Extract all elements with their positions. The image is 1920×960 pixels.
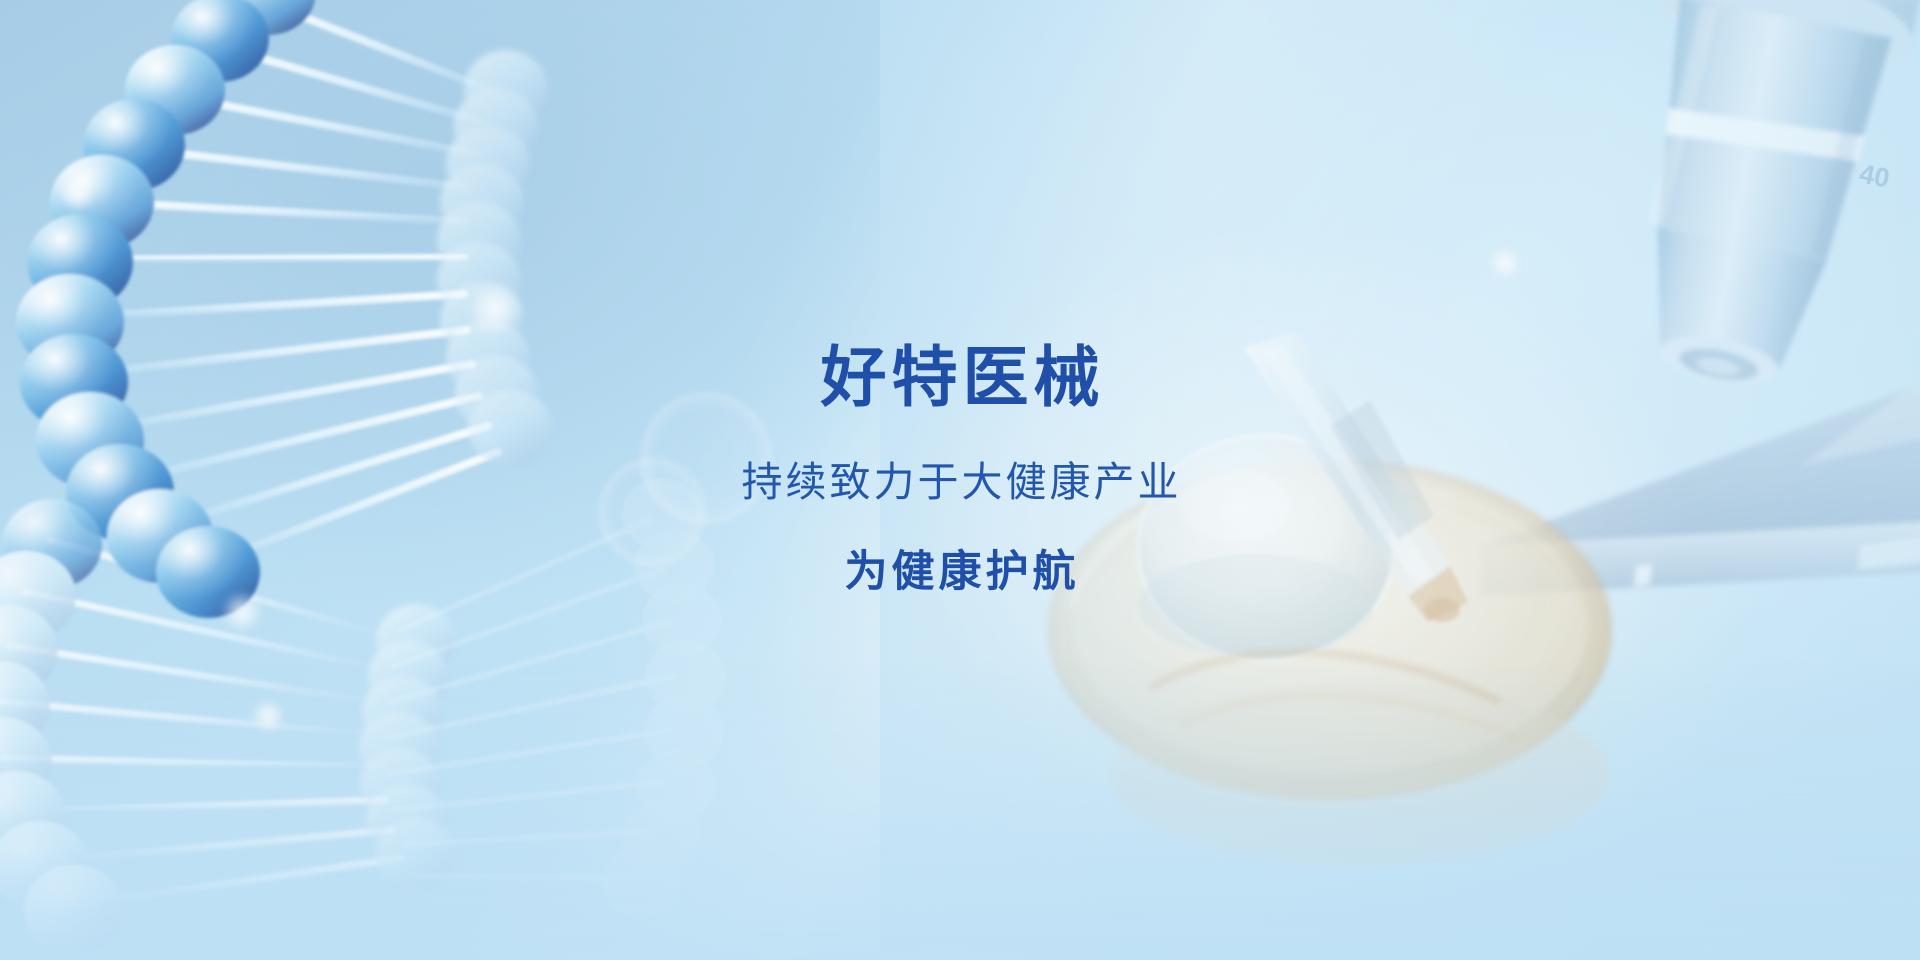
hero-banner: 40 [0, 0, 1920, 960]
hero-subheadline: 持续致力于大健康产业 [0, 462, 1920, 503]
hero-copy-block: 好特医械 持续致力于大健康产业 为健康护航 [0, 344, 1920, 594]
hero-tagline: 为健康护航 [0, 551, 1920, 594]
page-title: 好特医械 [0, 344, 1920, 410]
